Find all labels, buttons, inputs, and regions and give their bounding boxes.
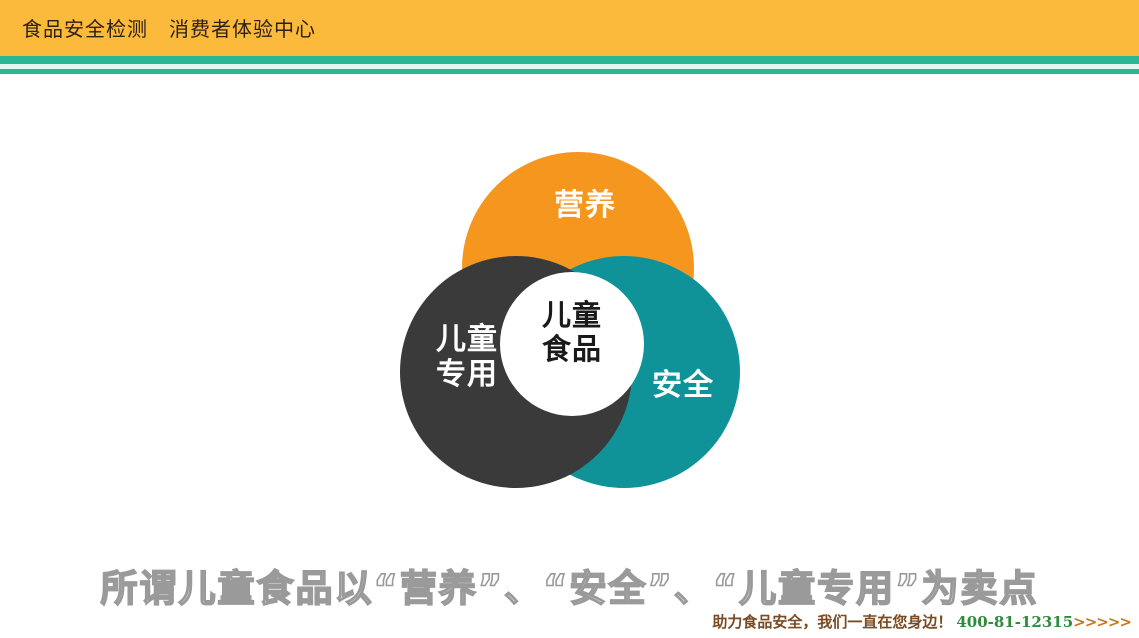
venn-diagram: 营养 儿童 专用 安全 儿童 食品 bbox=[390, 140, 770, 500]
stripe-white-gap bbox=[0, 74, 1139, 77]
venn-label-children-only: 儿童 专用 bbox=[412, 322, 522, 393]
footer-chevrons-icon: >>>>> bbox=[1073, 613, 1131, 631]
footer-phone: 400-81-12315 bbox=[956, 613, 1073, 631]
caption-text: 所谓儿童食品以“营养”、“安全”、“儿童专用”为卖点 bbox=[0, 558, 1139, 612]
page-title: 食品安全检测 消费者体验中心 bbox=[22, 13, 316, 42]
footer-bar: 助力食品安全，我们一直在您身边！400-81-12315>>>>> bbox=[0, 611, 1139, 632]
venn-label-center: 儿童 食品 bbox=[508, 298, 636, 366]
stripe-teal-thick bbox=[0, 56, 1139, 64]
venn-label-nutrition: 营养 bbox=[530, 188, 640, 223]
footer-slogan: 助力食品安全，我们一直在您身边！ bbox=[712, 613, 952, 631]
venn-label-safety: 安全 bbox=[628, 368, 738, 403]
